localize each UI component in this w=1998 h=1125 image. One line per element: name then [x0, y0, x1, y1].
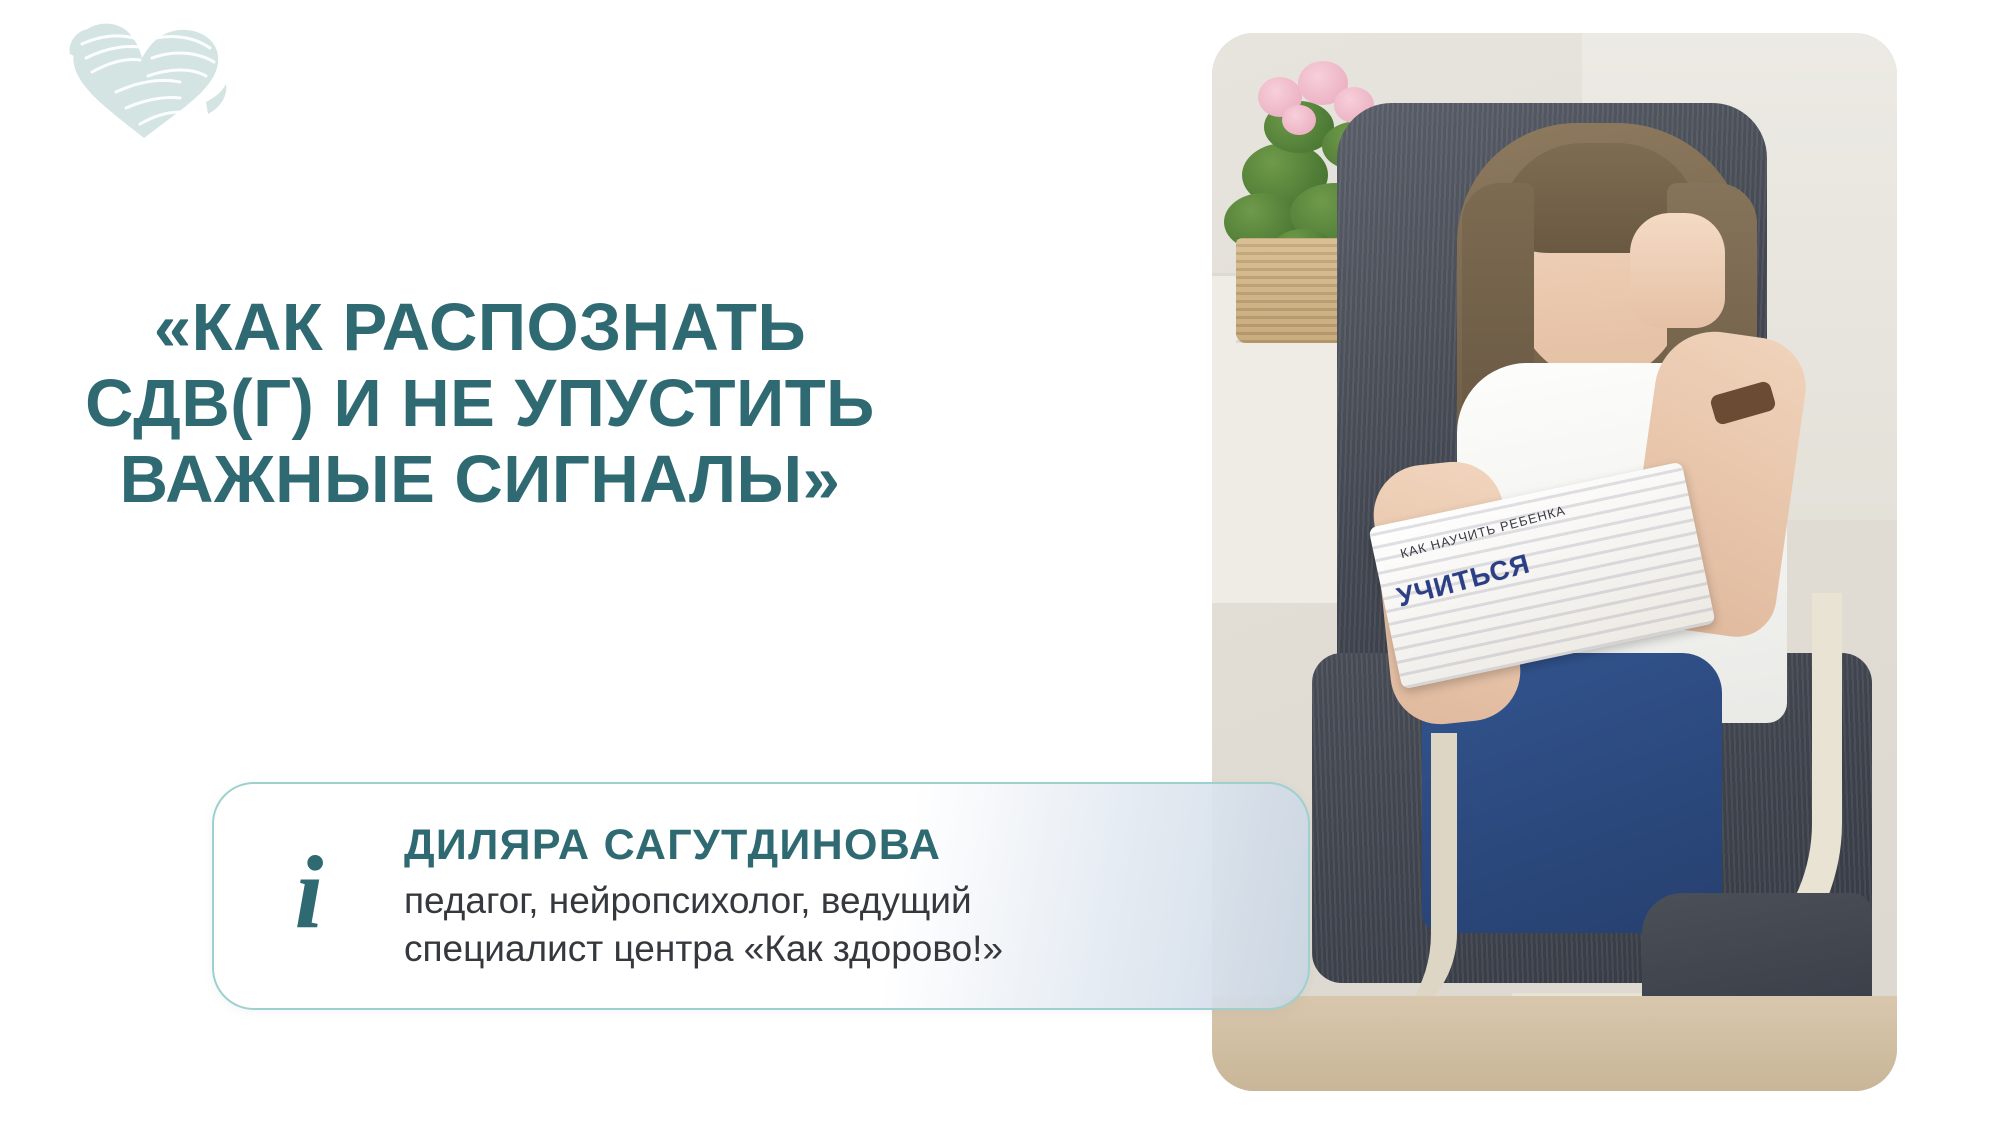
title-line-2: СДВ(Г) И НЕ УПУСТИТЬ — [40, 366, 920, 442]
chair-armrest-left — [1307, 733, 1457, 1033]
photo-floor — [1212, 996, 1897, 1091]
person-hand — [1630, 213, 1725, 328]
title-line-1: «КАК РАСПОЗНАТЬ — [40, 290, 920, 366]
speaker-name: ДИЛЯРА САГУТДИНОВА — [404, 819, 1284, 871]
speaker-info-text: ДИЛЯРА САГУТДИНОВА педагог, нейропсихоло… — [404, 819, 1308, 974]
slide-title: «КАК РАСПОЗНАТЬ СДВ(Г) И НЕ УПУСТИТЬ ВАЖ… — [40, 290, 920, 518]
speaker-info-card: i ДИЛЯРА САГУТДИНОВА педагог, нейропсихо… — [212, 782, 1310, 1010]
speaker-role-line-1: педагог, нейропсихолог, ведущий — [404, 877, 1284, 925]
speaker-photo: КАК НАУЧИТЬ РЕБЕНКА УЧИТЬСЯ — [1212, 33, 1897, 1091]
speaker-role-line-2: специалист центра «Как здорово!» — [404, 925, 1284, 973]
brush-heart-logo — [56, 14, 236, 139]
info-icon: i — [214, 841, 404, 951]
title-line-3: ВАЖНЫЕ СИГНАЛЫ» — [40, 442, 920, 518]
